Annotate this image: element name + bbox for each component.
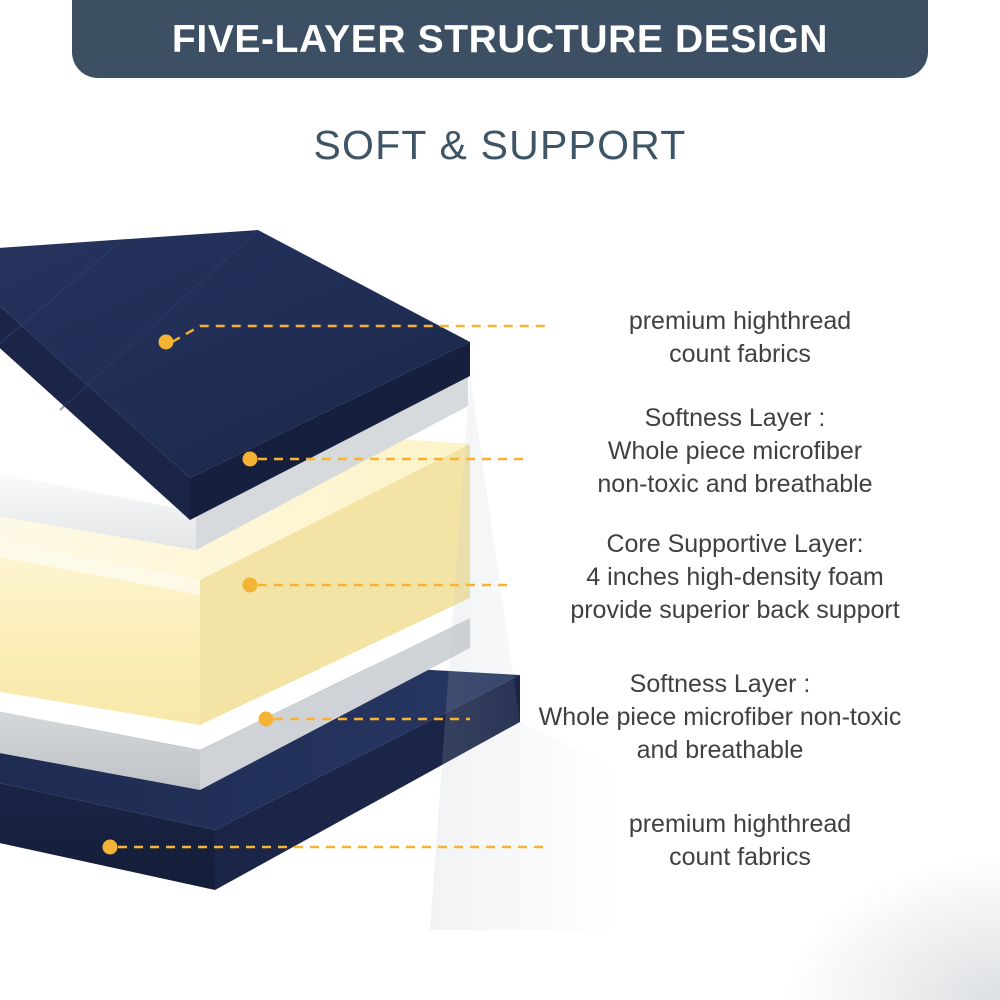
infographic-page: FIVE-LAYER STRUCTURE DESIGN SOFT & SUPPO… — [0, 0, 1000, 1000]
callout-line: premium highthread — [540, 808, 940, 841]
callout-line: 4 inches high-density foam — [500, 561, 970, 594]
callout-line: provide superior back support — [500, 594, 970, 627]
page-title: FIVE-LAYER STRUCTURE DESIGN — [172, 20, 828, 59]
callout-line: and breathable — [460, 734, 980, 767]
callout-core: Core Supportive Layer: 4 inches high-den… — [500, 528, 970, 627]
subtitle: SOFT & SUPPORT — [0, 122, 1000, 169]
callout-line: Softness Layer : — [460, 668, 980, 701]
callout-top-softness: Softness Layer : Whole piece microfiber … — [520, 402, 950, 501]
callout-bottom-softness: Softness Layer : Whole piece microfiber … — [460, 668, 980, 767]
callout-line: Whole piece microfiber non-toxic — [460, 701, 980, 734]
callout-line: count fabrics — [540, 338, 940, 371]
callout-line: premium highthread — [540, 305, 940, 338]
callout-line: Core Supportive Layer: — [500, 528, 970, 561]
callout-line: Softness Layer : — [520, 402, 950, 435]
callout-top-fabric: premium highthread count fabrics — [540, 305, 940, 371]
corner-shadow — [790, 860, 1000, 1000]
callout-line: non-toxic and breathable — [520, 468, 950, 501]
callout-line: Whole piece microfiber — [520, 435, 950, 468]
header-banner: FIVE-LAYER STRUCTURE DESIGN — [72, 0, 928, 78]
